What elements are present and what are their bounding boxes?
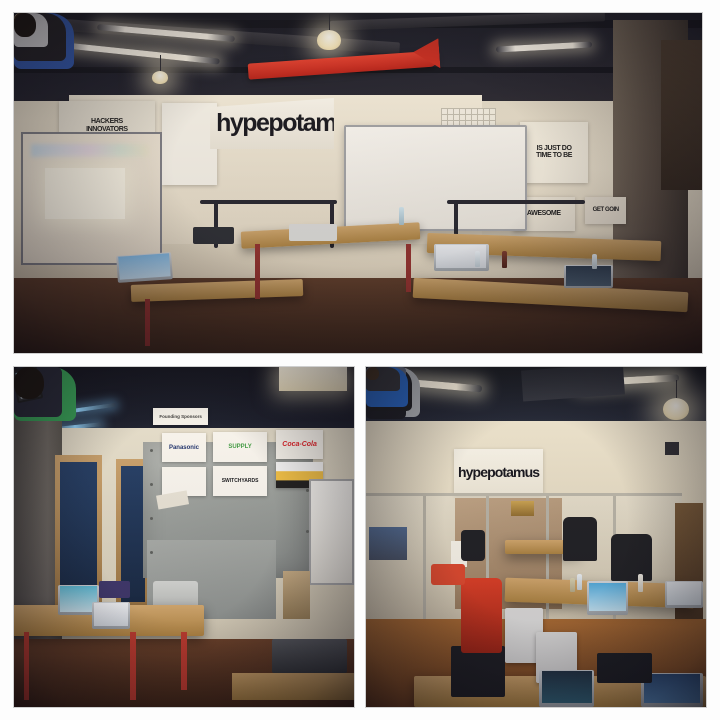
monitor — [289, 224, 337, 241]
projected-slide — [45, 168, 125, 220]
panel-presenter-with-tablet: Founding Sponsors Panasonic SUPPLY SWITC… — [14, 367, 354, 707]
red-jacket — [461, 578, 502, 653]
water-bottle — [502, 251, 507, 268]
banner-text: Founding Sponsors — [159, 414, 202, 419]
water-bottle — [475, 251, 480, 267]
poster-line: HACKERS — [91, 118, 123, 125]
laptop — [116, 253, 173, 284]
hypepotamus-wall-sign: hypepotamus — [454, 449, 542, 497]
sponsor-label: SWITCHYARDS — [222, 478, 259, 484]
banner-founding-sponsors: Founding Sponsors — [153, 408, 207, 425]
sponsor-switchyards: SWITCHYARDS — [213, 466, 267, 497]
hypepotamus-sign-text: hypepotamus — [458, 464, 539, 480]
laptop-screen — [644, 674, 700, 703]
ceiling-light-panel — [279, 367, 347, 391]
laptop — [434, 244, 489, 271]
panel-coworking-space-workers: hypepotamus — [366, 367, 706, 707]
head — [14, 367, 44, 399]
panel-classroom-presentation: HACKERS INNOVATORS STORYTELLERS BELIEVER… — [14, 13, 702, 353]
sponsor-label: Panasonic — [169, 445, 199, 451]
head — [14, 13, 36, 37]
whiteboard — [344, 125, 527, 231]
poster-line: GET GOIN — [593, 207, 619, 213]
sponsor-coca-cola: Coca-Cola — [276, 430, 324, 459]
table-leg — [181, 632, 187, 690]
office-chair — [563, 517, 597, 561]
wooden-table-right — [232, 673, 354, 700]
table-leg — [145, 299, 150, 347]
poster-get-goin: GET GOIN — [585, 197, 626, 224]
laptop — [665, 581, 702, 608]
red-object — [431, 564, 465, 584]
laptop-screen — [119, 254, 171, 280]
photo-collage: HACKERS INNOVATORS STORYTELLERS BELIEVER… — [0, 0, 720, 720]
whiteboard — [309, 479, 354, 585]
pendant-lamp — [152, 71, 168, 84]
poster-line: TIME TO BE — [536, 152, 572, 159]
wall-art — [511, 501, 533, 517]
table-leg — [24, 632, 29, 700]
handrail — [200, 200, 338, 204]
wall-speaker — [665, 442, 679, 456]
laptop-screen — [566, 266, 610, 286]
monitor — [193, 227, 234, 244]
laptop — [587, 581, 628, 615]
folding-chair-dark — [451, 646, 505, 697]
laptop-screen — [94, 603, 128, 626]
poster-line: AWESOME — [527, 210, 561, 217]
poster-line: IS JUST DO — [537, 145, 572, 152]
framed-poster — [162, 103, 217, 185]
sponsor-green-logo: SUPPLY — [213, 432, 267, 463]
sponsor-panasonic: Panasonic — [162, 433, 206, 462]
water-bottle — [570, 578, 575, 592]
pendant-bulb — [663, 398, 689, 420]
laptop-screen — [542, 671, 592, 702]
laptop — [564, 265, 612, 289]
table-leg — [130, 632, 136, 700]
laptop-screen — [667, 582, 701, 605]
wall-map — [283, 571, 310, 619]
sponsor-label: SUPPLY — [228, 444, 251, 450]
backpack — [99, 581, 130, 598]
laptop-screen — [589, 583, 627, 612]
water-bottle — [592, 254, 597, 269]
table-leg — [406, 244, 411, 292]
office-chair — [461, 530, 485, 561]
interior-monitor — [369, 527, 407, 561]
water-bottle — [577, 574, 582, 590]
handrail — [447, 200, 585, 204]
sponsor-label: Coca-Cola — [282, 441, 317, 448]
office-chair — [611, 534, 652, 582]
laptop — [597, 653, 651, 684]
water-bottle — [399, 207, 404, 225]
table-leg — [255, 244, 260, 298]
poster-just-do-it: IS JUST DO TIME TO BE — [520, 122, 589, 183]
laptop — [539, 670, 593, 707]
head — [366, 367, 379, 380]
projector-glare — [31, 144, 149, 157]
projector-screen — [21, 132, 163, 265]
laptop — [92, 602, 129, 629]
pendant-lamp — [317, 30, 341, 50]
door — [661, 40, 702, 190]
water-bottle — [638, 574, 643, 592]
projector-box — [272, 639, 347, 673]
